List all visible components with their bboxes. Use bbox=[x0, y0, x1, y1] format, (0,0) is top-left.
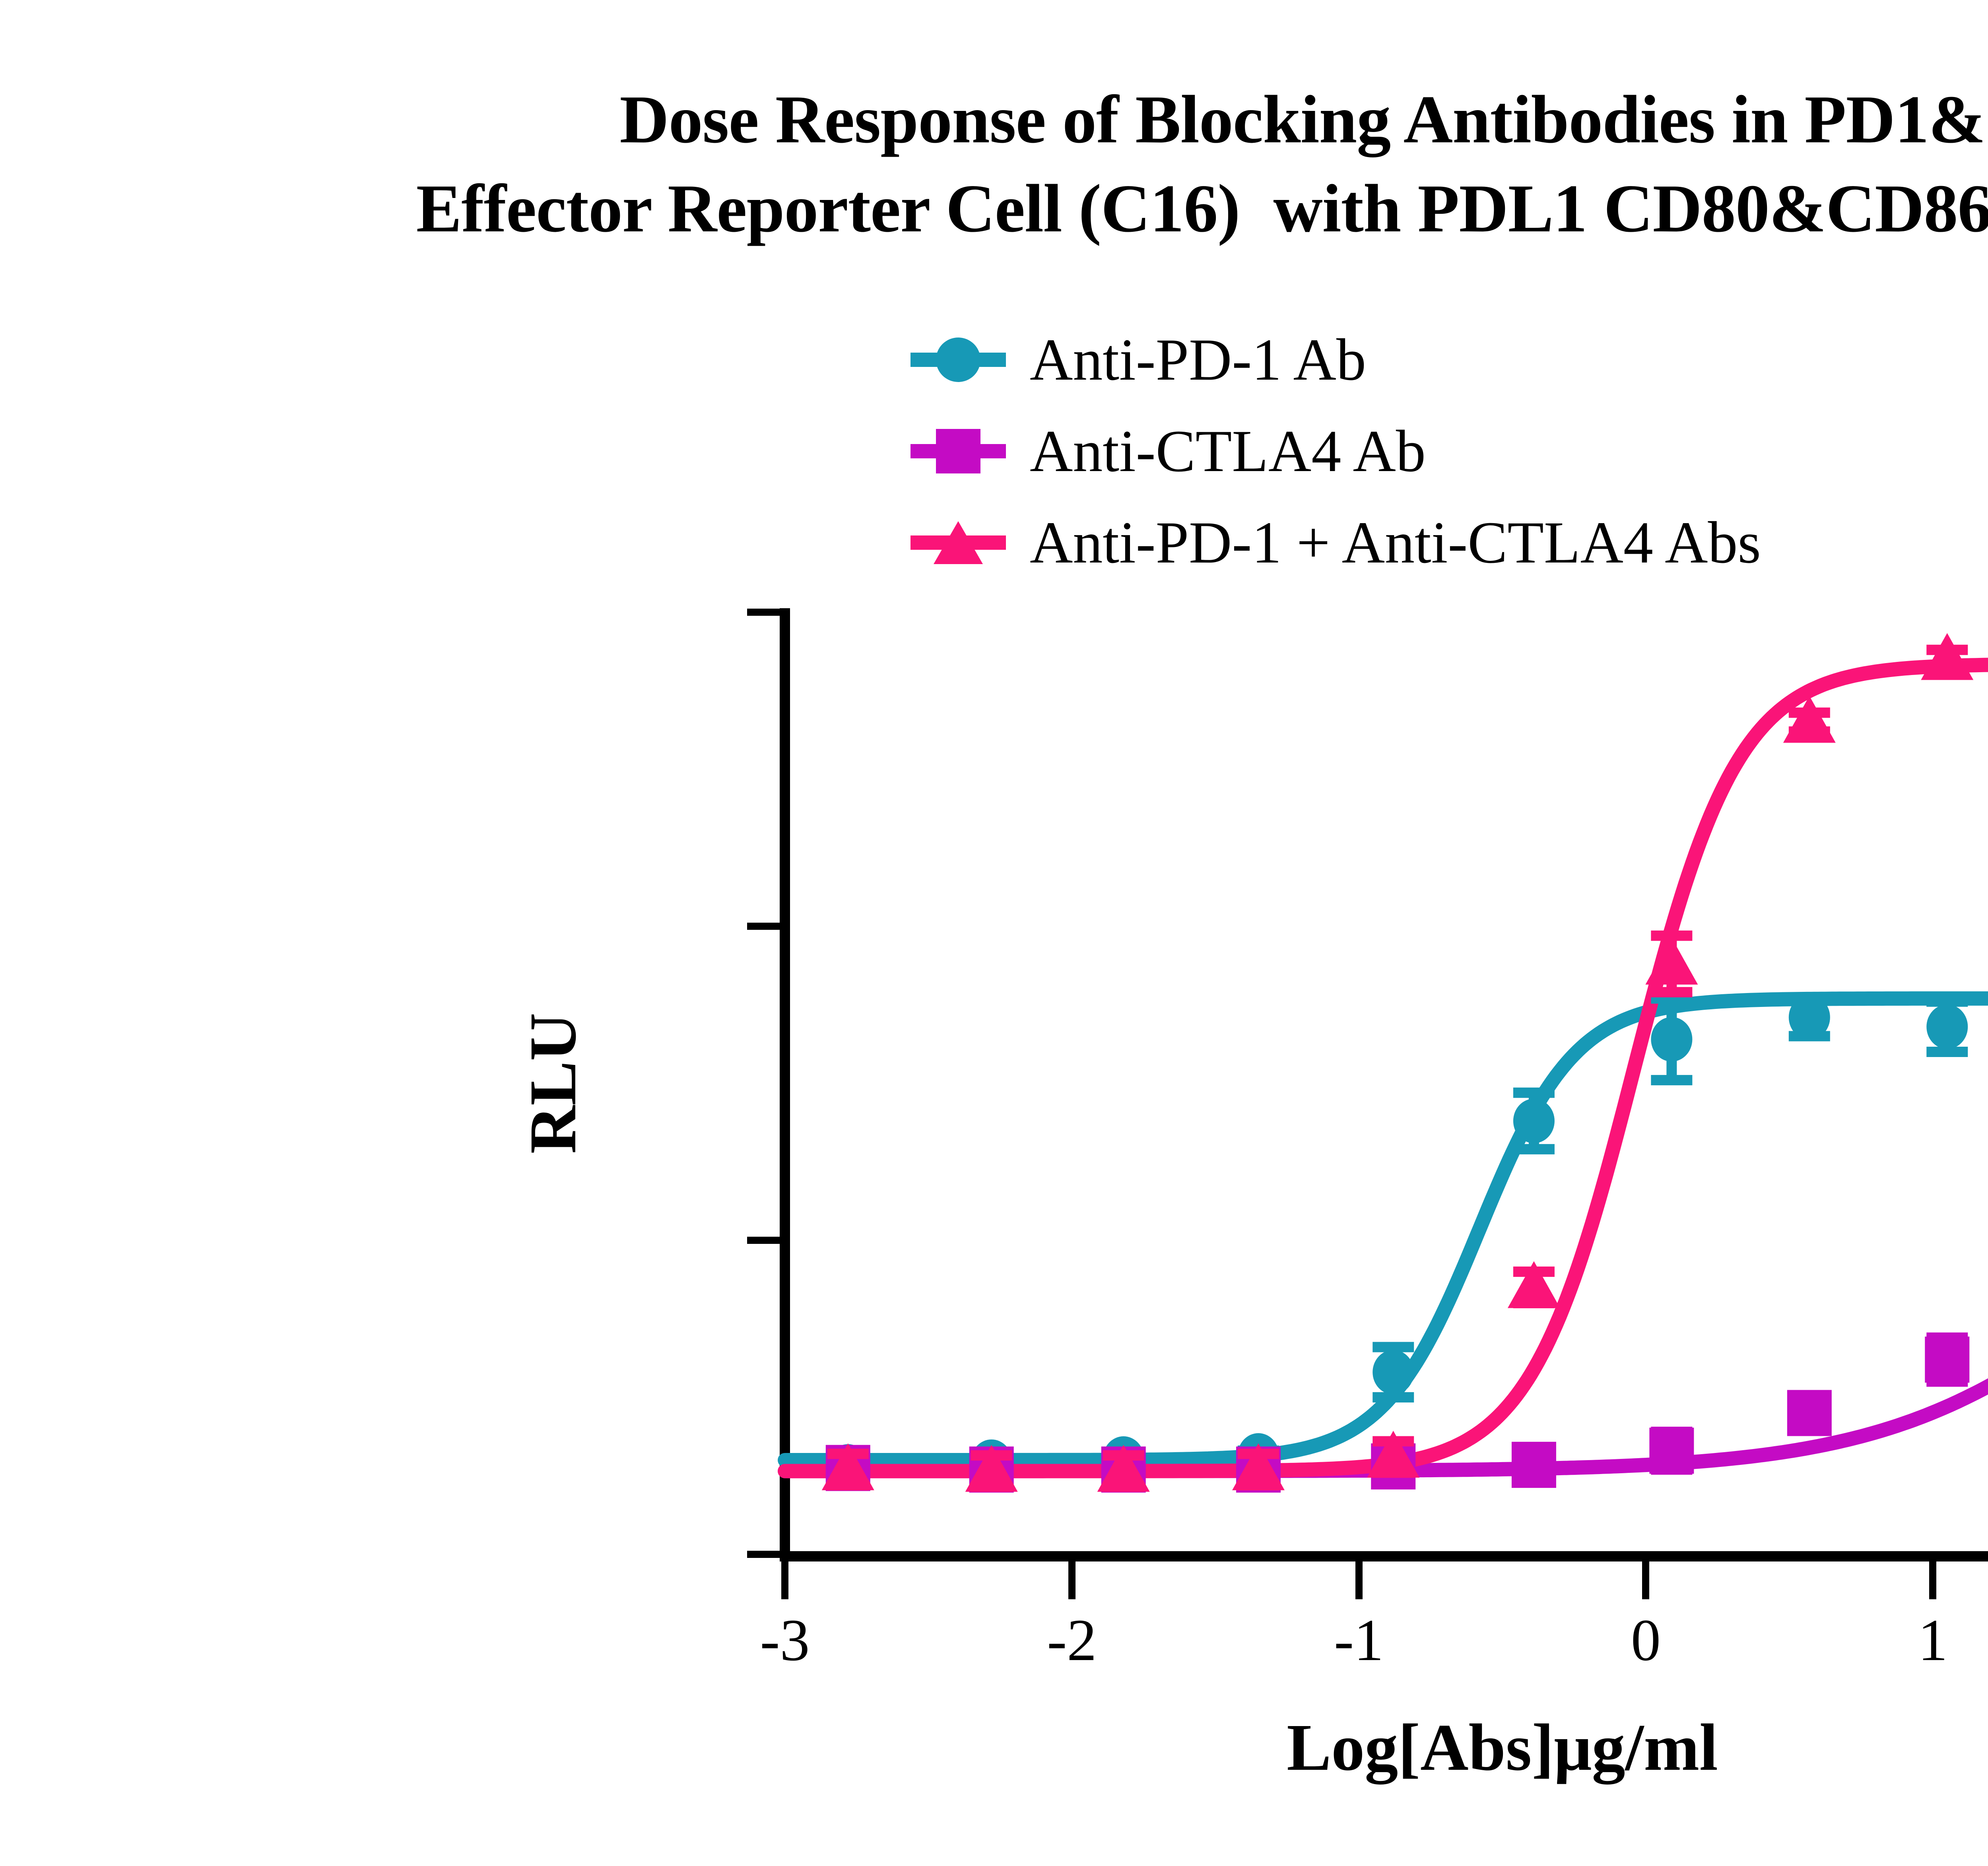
triangle-marker-icon bbox=[934, 521, 983, 564]
x-tick bbox=[1929, 1561, 1936, 1599]
y-tick bbox=[747, 923, 785, 930]
chart-title-line-2: Effector Reporter Cell (C16) with PDL1 C… bbox=[0, 165, 1988, 254]
x-tick bbox=[1355, 1561, 1363, 1599]
x-tick-label: -2 bbox=[1047, 1606, 1097, 1674]
x-tick bbox=[1068, 1561, 1076, 1599]
legend-key-combo bbox=[911, 531, 1006, 555]
chart-title-line-1: Dose Response of Blocking Antibodies in … bbox=[0, 76, 1988, 165]
y-tick bbox=[747, 1551, 785, 1558]
y-tick bbox=[747, 609, 785, 616]
x-tick bbox=[781, 1561, 788, 1599]
circle-marker-icon bbox=[1651, 1017, 1692, 1061]
y-axis-title: RLU bbox=[515, 1013, 592, 1154]
legend-item-combo: Anti-PD-1 + Anti-CTLA4 Abs bbox=[911, 497, 1761, 588]
triangle-marker-icon bbox=[1921, 633, 1973, 680]
legend-label-anti-pd1: Anti-PD-1 Ab bbox=[1030, 326, 1366, 394]
legend-label-combo: Anti-PD-1 + Anti-CTLA4 Abs bbox=[1030, 508, 1761, 577]
chart-page: Dose Response of Blocking Antibodies in … bbox=[0, 0, 1988, 1866]
square-marker-icon bbox=[1787, 1390, 1832, 1436]
circle-marker-icon bbox=[1513, 1099, 1555, 1143]
legend-item-anti-pd1: Anti-PD-1 Ab bbox=[911, 314, 1761, 405]
square-marker-icon bbox=[1649, 1428, 1694, 1474]
chart-title: Dose Response of Blocking Antibodies in … bbox=[0, 76, 1988, 253]
chart-legend: Anti-PD-1 Ab Anti-CTLA4 Ab Anti-PD-1 + A… bbox=[911, 314, 1761, 588]
square-marker-icon bbox=[1925, 1336, 1969, 1383]
legend-key-anti-pd1 bbox=[911, 348, 1006, 372]
y-tick bbox=[747, 1237, 785, 1244]
x-tick-label: -1 bbox=[1334, 1606, 1384, 1674]
x-tick bbox=[1642, 1561, 1649, 1599]
x-tick-label: -3 bbox=[760, 1606, 810, 1674]
square-marker-icon bbox=[936, 429, 980, 473]
x-tick-label: 0 bbox=[1631, 1606, 1661, 1674]
legend-key-anti-ctla4 bbox=[911, 439, 1006, 463]
plot-area: RLU Log[Abs]μg/ml 0100000200000300000-3-… bbox=[785, 612, 1988, 1554]
legend-label-anti-ctla4: Anti-CTLA4 Ab bbox=[1030, 417, 1426, 485]
series-canvas bbox=[785, 612, 1988, 1554]
x-tick-label: 1 bbox=[1918, 1606, 1948, 1674]
circle-marker-icon bbox=[1789, 995, 1830, 1040]
legend-item-anti-ctla4: Anti-CTLA4 Ab bbox=[911, 405, 1761, 497]
x-axis-title: Log[Abs]μg/ml bbox=[1287, 1709, 1718, 1786]
triangle-marker-icon bbox=[1645, 938, 1698, 985]
circle-marker-icon bbox=[1373, 1350, 1414, 1395]
circle-marker-icon bbox=[936, 338, 980, 382]
square-marker-icon bbox=[1512, 1442, 1556, 1488]
circle-marker-icon bbox=[1926, 1005, 1968, 1049]
